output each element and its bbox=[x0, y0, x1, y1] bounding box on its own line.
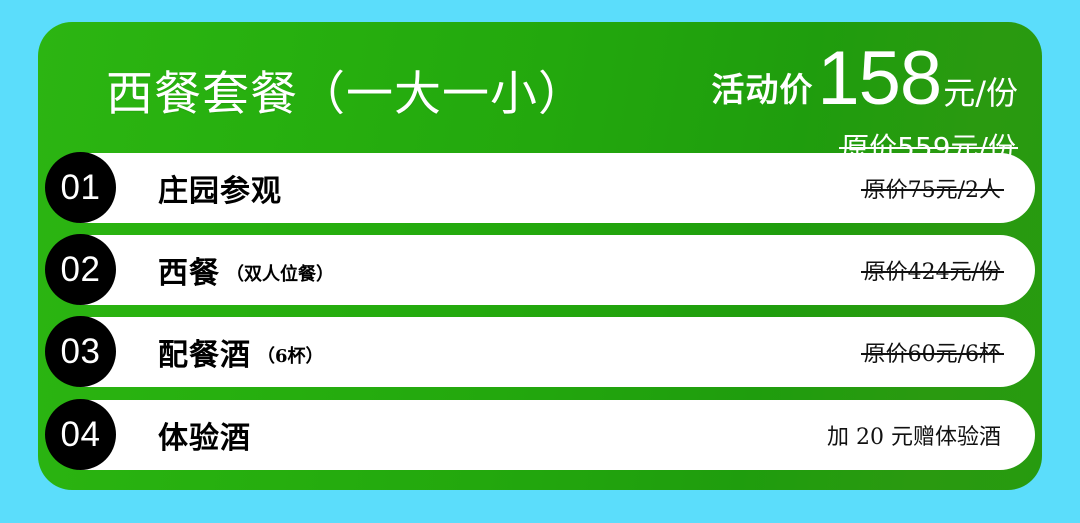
list-item: 02 西餐 （双人位餐） 原价424元/份 bbox=[48, 235, 1035, 305]
list-item: 03 配餐酒 （6杯） 原价60元/6杯 bbox=[48, 317, 1035, 387]
item-title: 西餐 bbox=[158, 248, 220, 292]
item-note: 原价424元/份 bbox=[864, 235, 1001, 305]
item-label: 配餐酒 （6杯） bbox=[158, 317, 324, 387]
item-note-text: 加 20 元赠体验酒 bbox=[827, 419, 1001, 451]
item-title: 庄园参观 bbox=[158, 166, 282, 210]
item-title: 配餐酒 bbox=[158, 330, 251, 374]
item-title: 体验酒 bbox=[158, 413, 251, 457]
item-note-text: 原价424元/份 bbox=[864, 254, 1001, 286]
promo-price-label: 活动价 bbox=[711, 63, 813, 111]
item-number-badge: 01 bbox=[45, 152, 116, 223]
item-number-badge: 02 bbox=[45, 234, 116, 305]
item-subtitle: （6杯） bbox=[257, 342, 324, 368]
item-subtitle: （双人位餐） bbox=[226, 260, 334, 286]
items-list: 01 庄园参观 原价75元/2人 02 西餐 （双人位餐） 原价424元/份 bbox=[38, 153, 1042, 490]
price-block: 活动价 158 元/份 原价559元/份 bbox=[688, 46, 1018, 152]
item-label: 庄园参观 bbox=[158, 153, 282, 223]
item-label: 西餐 （双人位餐） bbox=[158, 235, 334, 305]
item-label: 体验酒 bbox=[158, 400, 251, 470]
list-item: 04 体验酒 加 20 元赠体验酒 bbox=[48, 400, 1035, 470]
promo-poster: 西餐套餐（一大一小） 活动价 158 元/份 原价559元/份 01 庄园参观 bbox=[0, 0, 1080, 523]
package-card: 西餐套餐（一大一小） 活动价 158 元/份 原价559元/份 01 庄园参观 bbox=[38, 22, 1042, 490]
item-note-text: 原价60元/6杯 bbox=[864, 336, 1001, 368]
item-note: 原价60元/6杯 bbox=[864, 317, 1001, 387]
promo-price: 活动价 158 元/份 bbox=[711, 46, 1018, 114]
item-note-text: 原价75元/2人 bbox=[864, 172, 1001, 204]
item-note: 原价75元/2人 bbox=[864, 153, 1001, 223]
card-header: 西餐套餐（一大一小） 活动价 158 元/份 原价559元/份 bbox=[38, 22, 1042, 153]
package-title: 西餐套餐（一大一小） bbox=[106, 72, 586, 119]
item-number-badge: 04 bbox=[45, 399, 116, 470]
item-number-badge: 03 bbox=[45, 316, 116, 387]
promo-price-amount: 158 bbox=[817, 46, 941, 113]
promo-price-unit: 元/份 bbox=[943, 68, 1018, 114]
list-item: 01 庄园参观 原价75元/2人 bbox=[48, 153, 1035, 223]
item-note: 加 20 元赠体验酒 bbox=[827, 400, 1001, 470]
